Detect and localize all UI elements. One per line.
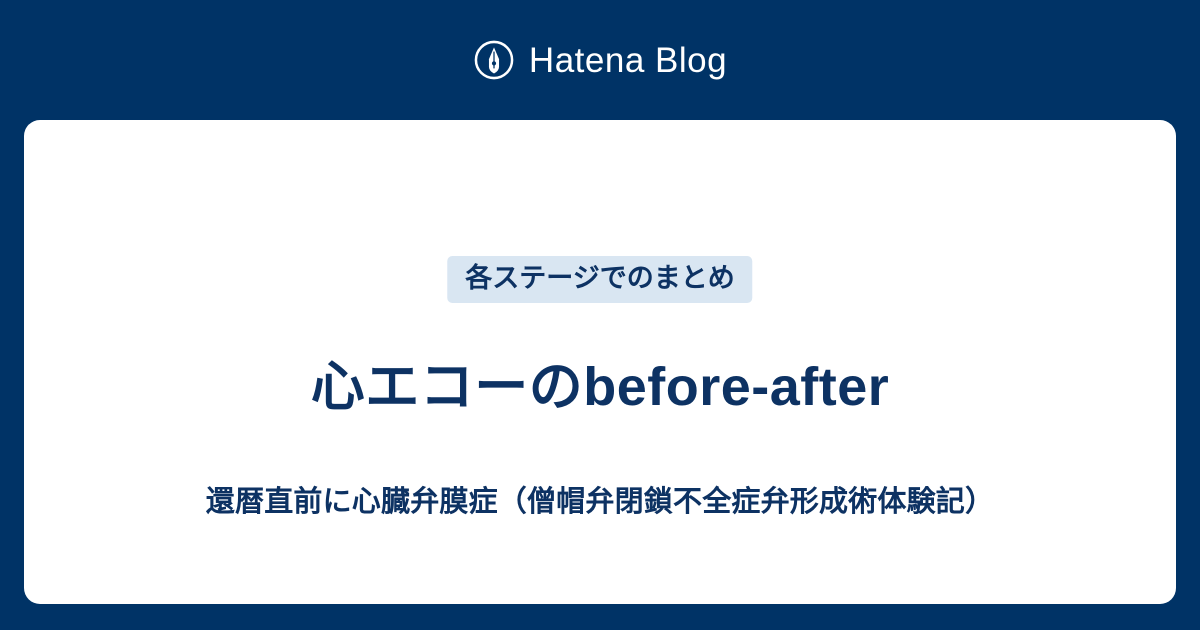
- brand-name-text: Hatena Blog: [529, 43, 727, 78]
- og-image-root: Hatena Blog 各ステージでのまとめ 心エコーのbefore-after…: [0, 0, 1200, 630]
- category-badge[interactable]: 各ステージでのまとめ: [447, 256, 752, 303]
- blog-name[interactable]: 還暦直前に心臓弁膜症（僧帽弁閉鎖不全症弁形成術体験記）: [24, 484, 1176, 522]
- fountain-pen-nib-circle-icon: [473, 39, 515, 81]
- hatena-blog-brand-header: Hatena Blog: [0, 0, 1200, 120]
- entry-title: 心エコーのbefore-after: [24, 352, 1176, 422]
- entry-card-inner: 各ステージでのまとめ 心エコーのbefore-after 還暦直前に心臓弁膜症（…: [24, 120, 1176, 604]
- entry-card: 各ステージでのまとめ 心エコーのbefore-after 還暦直前に心臓弁膜症（…: [24, 120, 1176, 604]
